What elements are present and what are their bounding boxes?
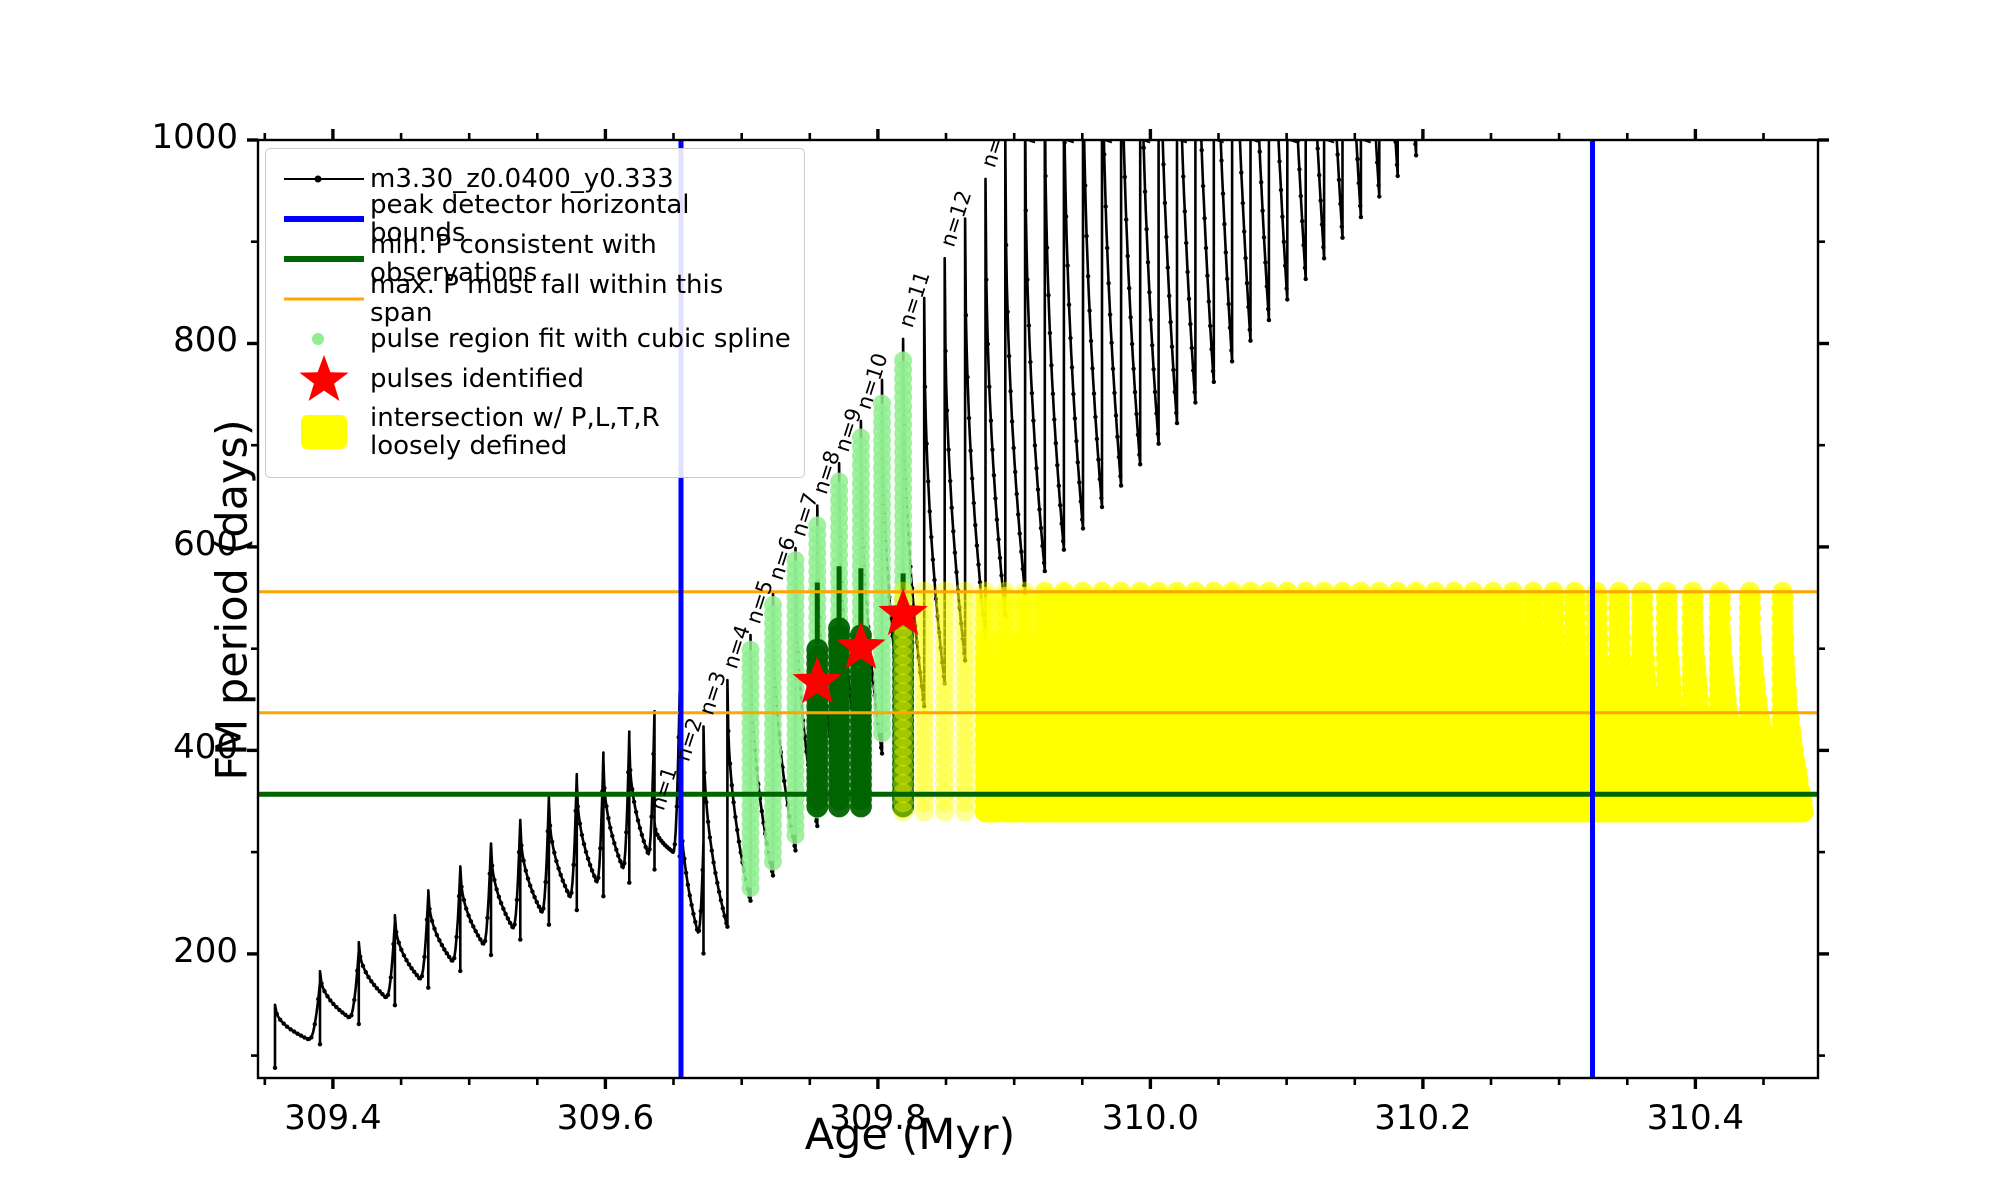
y-tick-label: 200 — [118, 931, 238, 971]
legend-label-intersection-line1: intersection w/ P,L,T,R — [370, 404, 660, 432]
legend-key-orange-line — [278, 279, 370, 319]
chart-figure: n=1n=2n=3n=4n=5n=6n=7n=8n=9n=10n=11n=12n… — [0, 0, 2000, 1200]
legend-key-green-line — [278, 239, 370, 279]
x-tick-label: 309.8 — [768, 1098, 988, 1138]
legend-label-intersection-line2: loosely defined — [370, 432, 660, 460]
legend-label-spline: pulse region fit with cubic spline — [370, 325, 791, 353]
legend-key-star — [278, 359, 370, 399]
y-tick-label: 1000 — [118, 117, 238, 157]
x-tick-label: 309.6 — [495, 1098, 715, 1138]
legend-key-yellow-square — [278, 412, 370, 452]
legend-key-line-marker — [278, 159, 370, 199]
legend-label-model: m3.30_z0.0400_y0.333 — [370, 165, 674, 193]
x-tick-label: 310.4 — [1585, 1098, 1805, 1138]
y-tick-label: 400 — [118, 727, 238, 767]
x-tick-label: 309.4 — [223, 1098, 443, 1138]
legend: m3.30_z0.0400_y0.333 peak detector horiz… — [265, 148, 805, 478]
legend-entry-intersection: intersection w/ P,L,T,R loosely defined — [278, 399, 792, 465]
y-tick-label: 800 — [118, 320, 238, 360]
legend-label-max-p: max. P must fall within this span — [370, 271, 792, 327]
legend-label-pulses: pulses identified — [370, 365, 584, 393]
star-icon — [297, 352, 351, 406]
y-tick-label: 600 — [118, 524, 238, 564]
x-tick-label: 310.2 — [1313, 1098, 1533, 1138]
legend-key-blue-line — [278, 199, 370, 239]
legend-entry-max-p: max. P must fall within this span — [278, 279, 792, 319]
x-tick-label: 310.0 — [1040, 1098, 1260, 1138]
y-axis-label: FM period (days) — [208, 419, 258, 780]
legend-entry-spline: pulse region fit with cubic spline — [278, 319, 792, 359]
legend-entry-pulses: pulses identified — [278, 359, 792, 399]
